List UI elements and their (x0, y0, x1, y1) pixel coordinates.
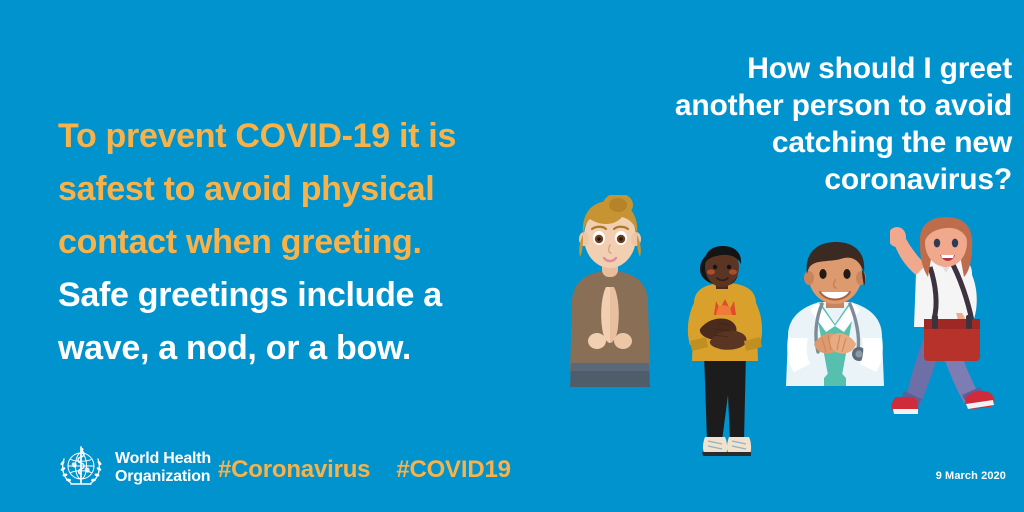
publication-date: 9 March 2020 (936, 470, 1006, 482)
woman-namaste-illustration (550, 195, 670, 395)
headline-line: How should I greet (532, 50, 1012, 87)
headline-line: catching the new (532, 124, 1012, 161)
person-hands-on-heart-illustration (680, 245, 770, 475)
hashtag-group: #Coronavirus #COVID19 (218, 456, 511, 484)
who-wordmark: World Health Organization (115, 450, 211, 486)
woman-waving-illustration (890, 215, 1005, 430)
message-line: contact when greeting. (58, 216, 528, 269)
message-line: wave, a nod, or a bow. (58, 322, 528, 375)
doctor-hands-on-chest-illustration (780, 240, 890, 390)
headline-question: How should I greet another person to avo… (532, 50, 1012, 198)
who-logo: World Health Organization (56, 443, 211, 493)
who-emblem-icon (56, 443, 106, 493)
greeting-figures-illustration (540, 190, 1024, 490)
who-covid-infographic: How should I greet another person to avo… (0, 0, 1024, 512)
advice-message: To prevent COVID-19 it is safest to avoi… (58, 110, 528, 375)
hashtag-coronavirus[interactable]: #Coronavirus (218, 456, 370, 484)
message-line: Safe greetings include a (58, 269, 528, 322)
who-wordmark-line2: Organization (115, 468, 211, 486)
headline-line: another person to avoid (532, 87, 1012, 124)
message-line: To prevent COVID-19 it is (58, 110, 528, 163)
message-line: safest to avoid physical (58, 163, 528, 216)
who-wordmark-line1: World Health (115, 450, 211, 468)
hashtag-covid19[interactable]: #COVID19 (396, 456, 510, 484)
